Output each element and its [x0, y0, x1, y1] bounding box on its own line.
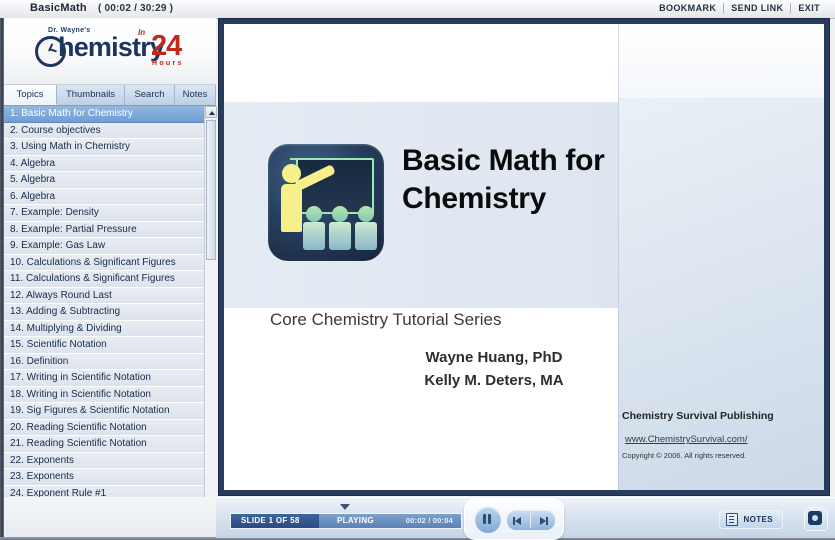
- brand-logo-area: Dr. Wayne's hemistry In 24 Hours: [4, 18, 216, 85]
- topic-list-item[interactable]: 13. Adding & Subtracting: [4, 304, 204, 321]
- topic-list-item[interactable]: 23. Exponents: [4, 469, 204, 486]
- pause-icon-bar-left: [483, 514, 486, 524]
- slide-divider-line: [618, 24, 619, 490]
- slide-time-label: 00:02 / 00:04: [406, 514, 453, 528]
- student-desk-3: [355, 222, 377, 250]
- step-controls: [506, 510, 556, 531]
- logo-word: hemistry: [58, 32, 164, 63]
- total-time-display: ( 00:02 / 30:29 ): [98, 3, 173, 14]
- topics-scrollbar[interactable]: [204, 106, 217, 509]
- topic-list-item[interactable]: 11. Calculations & Significant Figures: [4, 271, 204, 288]
- notes-button[interactable]: NOTES: [719, 510, 783, 529]
- presentation-player-window: BasicMath ( 00:02 / 30:29 ) BOOKMARKSEND…: [0, 0, 835, 540]
- bookmark-link[interactable]: BOOKMARK: [652, 3, 723, 13]
- topic-list-item[interactable]: 21. Reading Scientific Notation: [4, 436, 204, 453]
- topics-list-inner: 1. Basic Math for Chemistry2. Course obj…: [4, 106, 204, 502]
- playback-status-label: PLAYING: [337, 514, 374, 528]
- topic-list-item[interactable]: 8. Example: Partial Pressure: [4, 222, 204, 239]
- tab-thumbnails[interactable]: Thumbnails: [57, 85, 125, 105]
- student-desk-1: [303, 222, 325, 250]
- panel-tabs: Topics Thumbnails Search Notes: [4, 85, 216, 106]
- topic-list-item[interactable]: 3. Using Math in Chemistry: [4, 139, 204, 156]
- student-desk-2: [329, 222, 351, 250]
- slide-canvas: Basic Math for Chemistry Core Chemistry …: [224, 24, 824, 490]
- teacher-head: [282, 164, 301, 183]
- topic-list-item[interactable]: 17. Writing in Scientific Notation: [4, 370, 204, 387]
- previous-icon[interactable]: [515, 517, 521, 525]
- triangle-up-icon: [209, 111, 215, 115]
- topic-list-item[interactable]: 5. Algebra: [4, 172, 204, 189]
- logo-hours: Hours: [152, 60, 184, 67]
- chemistry-in-24-hours-logo: Dr. Wayne's hemistry In 24 Hours: [26, 26, 206, 78]
- logo-number: 24: [151, 30, 181, 63]
- topic-list-item[interactable]: 16. Definition: [4, 354, 204, 371]
- left-bottom-filler: [4, 497, 216, 537]
- fullscreen-icon: [808, 511, 822, 525]
- logo-in: In: [138, 28, 145, 37]
- author-line-1: Wayne Huang, PhD: [379, 346, 609, 369]
- notes-button-label: NOTES: [743, 515, 773, 524]
- topic-list-item[interactable]: 20. Reading Scientific Notation: [4, 420, 204, 437]
- topic-list-item[interactable]: 19. Sig Figures & Scientific Notation: [4, 403, 204, 420]
- slide-counter-label: SLIDE 1 OF 58: [241, 514, 300, 528]
- fullscreen-button[interactable]: [804, 507, 828, 531]
- topic-list-item[interactable]: 18. Writing in Scientific Notation: [4, 387, 204, 404]
- copyright-notice: Copyright © 2006. All rights reserved.: [622, 451, 746, 460]
- topic-list-item[interactable]: 4. Algebra: [4, 156, 204, 173]
- fullscreen-icon-dot: [812, 515, 818, 521]
- slide-stage: Basic Math for Chemistry Core Chemistry …: [218, 18, 830, 496]
- topic-list-item[interactable]: 9. Example: Gas Law: [4, 238, 204, 255]
- blackboard-lip: [290, 158, 298, 160]
- author-line-2: Kelly M. Deters, MA: [379, 369, 609, 392]
- teacher-body: [281, 184, 302, 232]
- previous-icon-bar[interactable]: [513, 517, 515, 525]
- topic-list-item[interactable]: 10. Calculations & Significant Figures: [4, 255, 204, 272]
- teacher-classroom-icon: [268, 144, 384, 261]
- publisher-url-link[interactable]: www.ChemistrySurvival.com/: [625, 434, 747, 445]
- topic-list-item[interactable]: 1. Basic Math for Chemistry: [4, 106, 204, 123]
- topic-list-item[interactable]: 7. Example: Density: [4, 205, 204, 222]
- slide-title: Basic Math for Chemistry: [402, 142, 702, 218]
- next-icon-bar[interactable]: [546, 517, 548, 525]
- publisher-name: Chemistry Survival Publishing: [622, 410, 774, 422]
- step-controls-divider: [530, 513, 531, 528]
- exit-link[interactable]: EXIT: [790, 3, 827, 13]
- send-link-link[interactable]: SEND LINK: [723, 3, 790, 13]
- student-head-2: [332, 206, 348, 222]
- topic-list-item[interactable]: 15. Scientific Notation: [4, 337, 204, 354]
- topic-list-item[interactable]: 2. Course objectives: [4, 123, 204, 140]
- playhead-marker-icon: [340, 504, 350, 510]
- tab-notes[interactable]: Notes: [175, 85, 216, 105]
- topic-list-item[interactable]: 12. Always Round Last: [4, 288, 204, 305]
- slide-title-line-1: Basic Math for: [402, 142, 702, 180]
- slide-subtitle: Core Chemistry Tutorial Series: [270, 310, 501, 330]
- slide-progress-bar[interactable]: SLIDE 1 OF 58 PLAYING 00:02 / 00:04: [230, 513, 462, 529]
- slide-title-line-2: Chemistry: [402, 180, 702, 218]
- notes-document-icon: [726, 513, 738, 526]
- topics-list[interactable]: 1. Basic Math for Chemistry2. Course obj…: [4, 106, 216, 509]
- pause-icon-bar-right: [488, 514, 491, 524]
- student-head-1: [306, 206, 322, 222]
- playback-controls: [464, 498, 564, 540]
- tab-search[interactable]: Search: [125, 85, 175, 105]
- titlebar-links: BOOKMARKSEND LINKEXIT: [652, 3, 827, 13]
- slide-authors: Wayne Huang, PhD Kelly M. Deters, MA: [379, 346, 609, 392]
- student-head-3: [358, 206, 374, 222]
- left-panel: Dr. Wayne's hemistry In 24 Hours Topics …: [4, 18, 216, 537]
- scrollbar-thumb[interactable]: [206, 120, 216, 260]
- pause-button[interactable]: [474, 506, 502, 534]
- topic-list-item[interactable]: 6. Algebra: [4, 189, 204, 206]
- app-title: BasicMath: [30, 2, 87, 14]
- title-bar: BasicMath ( 00:02 / 30:29 ) BOOKMARKSEND…: [0, 0, 835, 19]
- topic-list-item[interactable]: 22. Exponents: [4, 453, 204, 470]
- player-toolbar: SLIDE 1 OF 58 PLAYING 00:02 / 00:04 NOTE…: [216, 497, 835, 538]
- slide-right-top-fill: [618, 24, 824, 98]
- tab-topics[interactable]: Topics: [4, 85, 57, 105]
- scroll-up-button[interactable]: [205, 106, 217, 118]
- topic-list-item[interactable]: 14. Multiplying & Dividing: [4, 321, 204, 338]
